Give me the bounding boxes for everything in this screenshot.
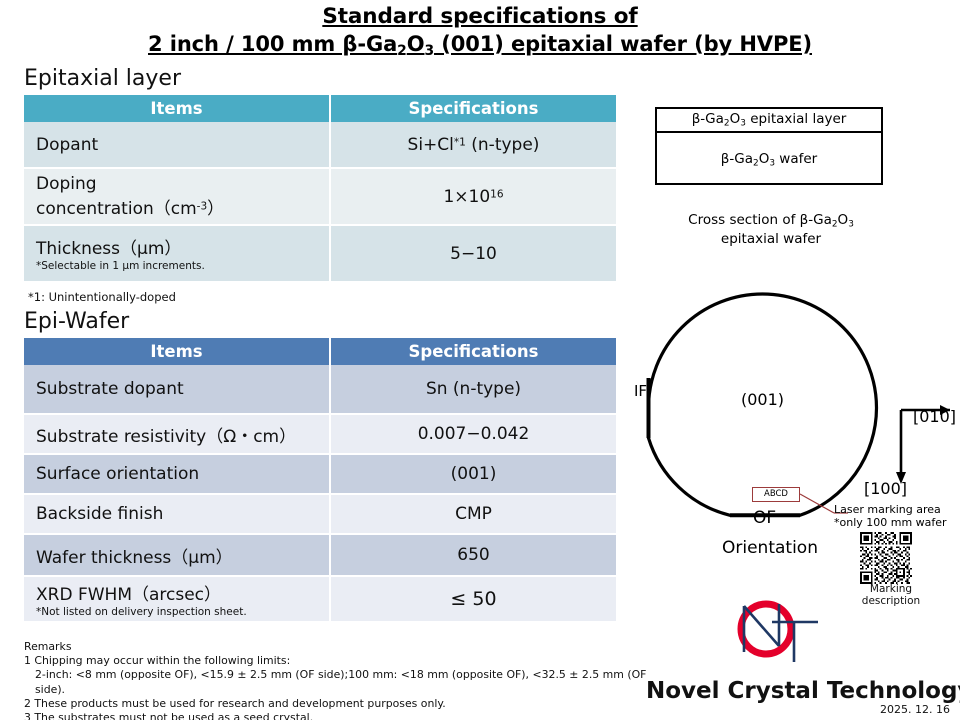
heading-epi-wafer: Epi-Wafer <box>24 309 129 334</box>
slide-page: Standard specifications of 2 inch / 100 … <box>0 0 960 720</box>
epi-wafer-table: Items Specifications Substrate dopant Sn… <box>24 338 616 623</box>
table-row: Substrate dopant Sn (n-type) <box>24 365 616 414</box>
title-line-2: 2 inch / 100 mm β-Ga2O3 (001) epitaxial … <box>148 31 812 60</box>
table-row: Backside finish CMP <box>24 494 616 534</box>
row-spec-surface-orientation: (001) <box>330 454 616 494</box>
row-item-backside-finish: Backside finish <box>24 494 330 534</box>
cross-section-epi-layer-box: β-Ga2O3 epitaxial layer <box>655 107 883 131</box>
row-item-dopant: Dopant <box>24 122 330 168</box>
remarks-block: Remarks 1 Chipping may occur within the … <box>24 640 654 720</box>
epitaxial-layer-table: Items Specifications Dopant Si+Cl*1 (n-t… <box>24 95 616 283</box>
table-row: Dopingconcentration（cm-3） 1×1016 <box>24 168 616 225</box>
table-row: Wafer thickness（μm） 650 <box>24 534 616 576</box>
footnote-unintentionally-doped: *1: Unintentionally-doped <box>28 290 176 304</box>
qr-code-caption: Marking description <box>846 583 936 607</box>
row-item-wafer-thickness: Wafer thickness（μm） <box>24 534 330 576</box>
table-row: Dopant Si+Cl*1 (n-type) <box>24 122 616 168</box>
qr-code[interactable] <box>860 532 912 584</box>
remarks-line-3: 3 The substrates must not be used as a s… <box>24 711 654 720</box>
row-item-thickness: Thickness（μm）*Selectable in 1 μm increme… <box>24 225 330 282</box>
row-note-thickness: *Selectable in 1 μm increments. <box>36 260 317 272</box>
column-header-specifications: Specifications <box>330 338 616 365</box>
row-item-surface-orientation: Surface orientation <box>24 454 330 494</box>
company-logo <box>720 596 830 668</box>
cross-section-diagram: β-Ga2O3 epitaxial layer β-Ga2O3 wafer <box>655 107 883 185</box>
title-line-1: Standard specifications of <box>322 4 637 31</box>
cross-section-caption: Cross section of β-Ga2O3epitaxial wafer <box>646 212 896 248</box>
column-header-items: Items <box>24 338 330 365</box>
row-spec-substrate-resistivity: 0.007−0.042 <box>330 414 616 454</box>
laser-marking-box: ABCD <box>752 487 800 502</box>
row-note-xrd-fwhm: *Not listed on delivery inspection sheet… <box>36 606 317 618</box>
wafer-of-label: OF <box>753 508 776 528</box>
remarks-line-2: 2 These products must be used for resear… <box>24 697 654 711</box>
row-spec-dopant: Si+Cl*1 (n-type) <box>330 122 616 168</box>
axis-label-010: [010] <box>913 407 956 426</box>
cross-section-wafer-box: β-Ga2O3 wafer <box>655 131 883 185</box>
page-title: Standard specifications of 2 inch / 100 … <box>0 4 960 60</box>
axis-label-100: [100] <box>864 479 907 498</box>
row-item-doping-concentration: Dopingconcentration（cm-3） <box>24 168 330 225</box>
column-header-items: Items <box>24 95 330 122</box>
remarks-line-1-detail: 2-inch: <8 mm (opposite OF), <15.9 ± 2.5… <box>24 668 654 696</box>
remarks-line-1: 1 Chipping may occur within the followin… <box>24 654 654 668</box>
wafer-if-label: IF <box>634 382 647 400</box>
table-row: XRD FWHM（arcsec）*Not listed on delivery … <box>24 576 616 622</box>
row-item-xrd-fwhm: XRD FWHM（arcsec）*Not listed on delivery … <box>24 576 330 622</box>
qr-code-svg <box>860 532 912 584</box>
heading-epitaxial-layer: Epitaxial layer <box>24 66 181 91</box>
row-spec-backside-finish: CMP <box>330 494 616 534</box>
table-header-row: Items Specifications <box>24 95 616 122</box>
company-name: Novel Crystal Technology, Inc. <box>646 678 956 704</box>
row-item-substrate-resistivity: Substrate resistivity（Ω・cm） <box>24 414 330 454</box>
row-spec-substrate-dopant: Sn (n-type) <box>330 365 616 414</box>
row-spec-thickness: 5−10 <box>330 225 616 282</box>
table-row: Substrate resistivity（Ω・cm） 0.007−0.042 <box>24 414 616 454</box>
laser-marking-caption: Laser marking area*only 100 mm wafer <box>834 503 960 529</box>
remarks-heading: Remarks <box>24 640 654 654</box>
wafer-orientation-label: (001) <box>741 390 784 409</box>
row-spec-wafer-thickness: 650 <box>330 534 616 576</box>
date-stamp: 2025. 12. 16 <box>880 703 950 716</box>
nct-logo-svg <box>720 596 830 668</box>
row-item-substrate-dopant: Substrate dopant <box>24 365 330 414</box>
table-row: Thickness（μm）*Selectable in 1 μm increme… <box>24 225 616 282</box>
table-header-row: Items Specifications <box>24 338 616 365</box>
column-header-specifications: Specifications <box>330 95 616 122</box>
row-spec-doping-concentration: 1×1016 <box>330 168 616 225</box>
table-row: Surface orientation (001) <box>24 454 616 494</box>
row-spec-xrd-fwhm: ≤ 50 <box>330 576 616 622</box>
wafer-orientation-caption: Orientation <box>722 538 818 558</box>
